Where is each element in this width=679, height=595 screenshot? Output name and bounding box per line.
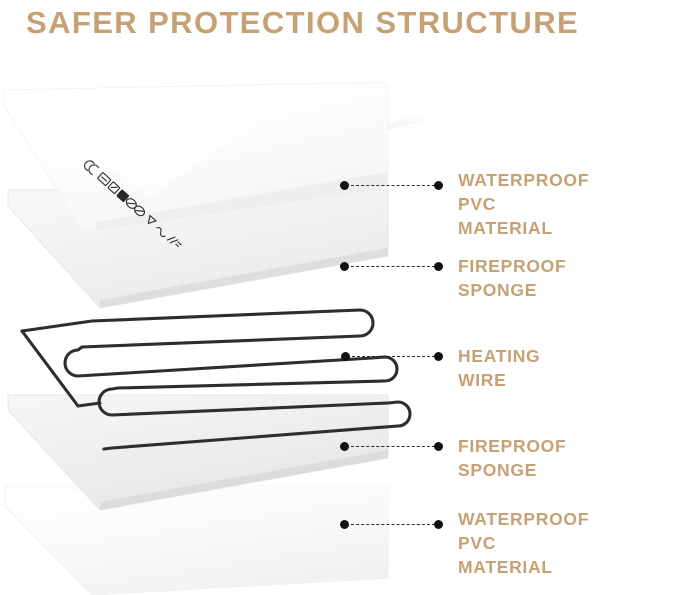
callout-label-dot — [434, 442, 443, 451]
callout-leader-line — [351, 266, 435, 267]
callout-leader-line — [351, 446, 435, 447]
callout-label-dot — [434, 181, 443, 190]
callout-leader-line — [351, 185, 435, 186]
callout-label-text: FIREPROOF SPONGE — [458, 254, 566, 302]
callout-label-dot — [434, 262, 443, 271]
exploded-layer-stack — [0, 58, 440, 595]
layer-waterproof-pvc-top — [0, 58, 440, 595]
product-structure-infographic: SAFER PROTECTION STRUCTURE — [0, 0, 679, 595]
callout-anchor-dot — [340, 262, 349, 271]
callout-label-text: WATERPROOF PVC MATERIAL — [458, 168, 589, 240]
page-title: SAFER PROTECTION STRUCTURE — [26, 2, 666, 44]
callout-leader-line — [352, 356, 435, 357]
callout-label-text: FIREPROOF SPONGE — [458, 434, 566, 482]
callout-anchor-dot — [340, 442, 349, 451]
callout-anchor-dot — [340, 520, 349, 529]
callout-label-dot — [434, 352, 443, 361]
callout-label-dot — [434, 520, 443, 529]
callout-label-text: WATERPROOF PVC MATERIAL — [458, 507, 589, 579]
callout-label-text: HEATING WIRE — [458, 344, 540, 392]
callout-anchor-dot — [340, 181, 349, 190]
callout-leader-line — [351, 524, 435, 525]
callout-anchor-dot — [341, 352, 350, 361]
